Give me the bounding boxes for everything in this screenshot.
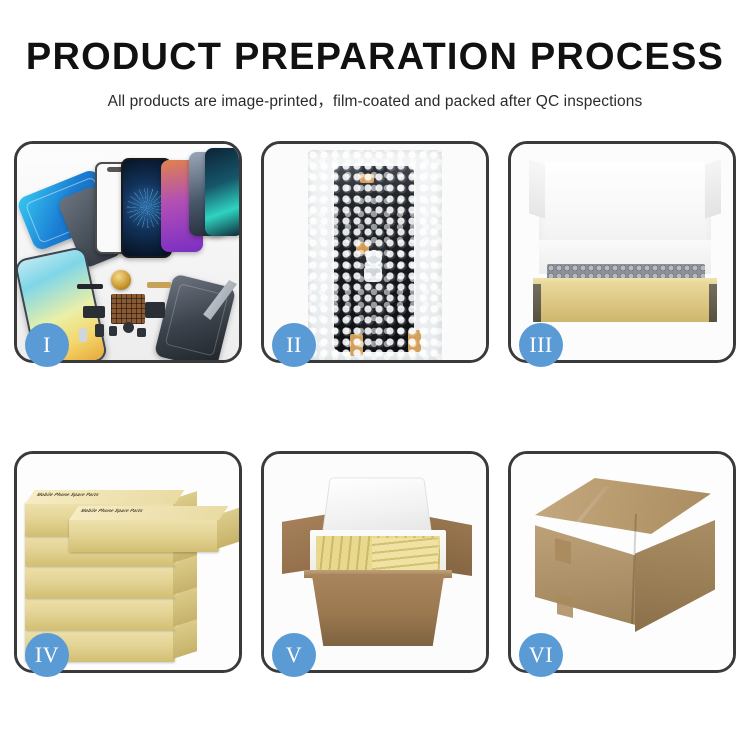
carton-side-face <box>635 520 715 632</box>
flex-cable-gold <box>147 282 171 288</box>
step-badge-6: VI <box>519 633 563 677</box>
step-badge-5: V <box>272 633 316 677</box>
screw-part-2 <box>109 326 117 336</box>
box-label-text: Mobile Phone Spare Parts <box>36 492 101 497</box>
step-panel-1: I <box>14 141 242 363</box>
speaker-part <box>123 322 134 333</box>
small-component-2 <box>145 302 165 318</box>
retail-box <box>25 596 175 630</box>
box-label-text: Mobile Phone Spare Parts <box>80 508 145 513</box>
carton-tape-patch-top <box>555 538 571 564</box>
flex-cable-1 <box>77 284 103 289</box>
page-subtitle: All products are image-printed，film-coat… <box>0 89 750 111</box>
step-panel-3: III <box>508 141 736 363</box>
phone-teal-swirl <box>205 148 239 236</box>
box-label-rear: Mobile Phone Spare Parts <box>31 492 171 504</box>
box-label-front: Mobile Phone Spare Parts <box>75 508 215 520</box>
sim-tray-part <box>79 328 87 342</box>
process-steps-grid: I II III <box>14 141 736 673</box>
carton-front-face <box>535 514 639 626</box>
carton-body <box>306 574 450 646</box>
bubble-highlight-layer <box>308 150 442 360</box>
carton-top-face <box>535 478 711 534</box>
bubble-wrap-sleeve <box>308 150 442 360</box>
step-badge-1: I <box>25 323 69 367</box>
step-badge-3: III <box>519 323 563 367</box>
retail-box <box>25 564 175 598</box>
screw-part-1 <box>95 324 104 337</box>
logic-board-chip <box>111 294 145 324</box>
yellow-kraft-box-base <box>533 284 717 322</box>
retail-box-top-front: Mobile Phone Spare Parts <box>69 518 219 552</box>
step-badge-4: IV <box>25 633 69 677</box>
step-panel-2: II <box>261 141 489 363</box>
gold-coil-part <box>111 270 131 290</box>
small-component-1 <box>83 306 105 318</box>
page-title: PRODUCT PREPARATION PROCESS <box>0 38 750 78</box>
step-panel-4: Mobile Phone Spare Parts Mobile Phone Sp… <box>14 451 242 673</box>
page-header: PRODUCT PREPARATION PROCESS All products… <box>0 0 750 111</box>
screw-part-3 <box>137 328 146 337</box>
step-panel-5: V <box>261 451 489 673</box>
carton-tape-patch-bottom <box>557 594 573 618</box>
step-badge-2: II <box>272 323 316 367</box>
step-panel-6: VI <box>508 451 736 673</box>
foam-lid-open <box>322 478 433 538</box>
